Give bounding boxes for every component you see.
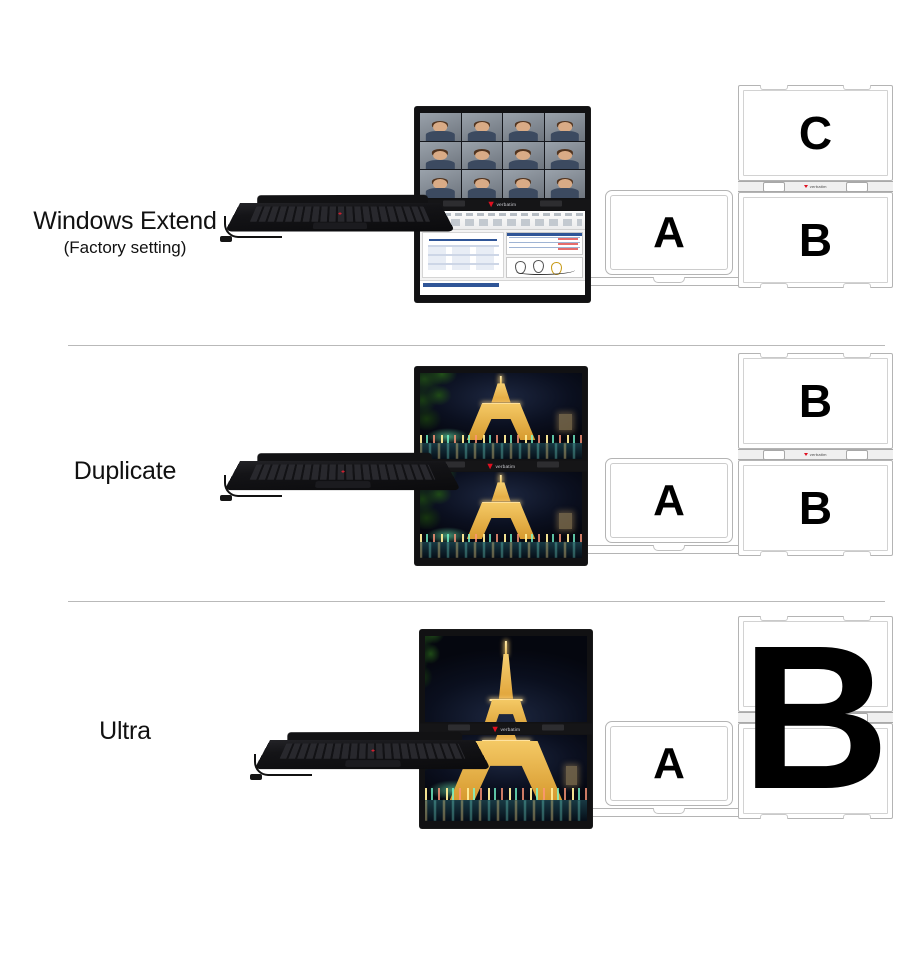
map-pin-icon [551, 262, 562, 275]
mode-label-title: Duplicate [0, 457, 250, 486]
wireframe-top-panel-letter: C [799, 110, 832, 156]
verbatim-wordmark: verbatim [500, 726, 520, 731]
wireframe-dual-monitor: C verbatim B [738, 85, 893, 288]
wireframe-top-panel-letter: B [799, 378, 832, 424]
wireframe-bottom-bezel [743, 728, 888, 814]
laptop-photo [270, 732, 475, 783]
mode-row-windows-extend: Windows Extend (Factory setting) [0, 85, 900, 340]
monitor-top-panel [415, 367, 587, 466]
laptop-trackpad [314, 481, 370, 488]
mode-label-windows-extend: Windows Extend (Factory setting) [0, 207, 250, 260]
connection-cable [254, 754, 312, 776]
mode-label-subtitle: (Factory setting) [0, 236, 250, 260]
vc-participant-tile [462, 170, 503, 198]
wireframe-laptop-screen: A [605, 190, 733, 275]
verbatim-v-icon [489, 202, 494, 207]
laptop-trackpoint [338, 212, 341, 214]
wireframe-laptop: A [605, 458, 733, 554]
verbatim-logo: verbatim [487, 463, 515, 468]
eiffel-background-building [559, 513, 572, 528]
vc-participant-tile [420, 142, 461, 170]
eiffel-city-lights [425, 788, 587, 800]
wireframe-bottom-tab-right [843, 551, 871, 556]
eiffel-tower-structure [464, 475, 539, 539]
wireframe-hinge-bar: verbatim [738, 712, 893, 723]
verbatim-wordmark: verbatim [810, 715, 827, 720]
wireframe-hinge-clip-right [846, 182, 868, 192]
eiffel-tower-image [420, 373, 582, 459]
laptop-trackpad [313, 223, 368, 230]
connection-cable [224, 475, 282, 497]
verbatim-v-icon [804, 453, 808, 456]
verbatim-v-icon [804, 185, 808, 188]
wireframe-hinge-clip-right [846, 450, 868, 460]
wireframe-top-panel [738, 616, 893, 712]
wireframe-hinge-clip-right [846, 713, 868, 723]
monitor-top-screen [425, 636, 587, 722]
verbatim-wordmark: verbatim [497, 202, 517, 207]
wireframe-hinge-clip-left [763, 182, 785, 192]
eiffel-background-building [566, 766, 577, 785]
mode-label-title: Ultra [0, 717, 250, 746]
wireframe-verbatim-logo: verbatim [804, 452, 826, 457]
wireframe-laptop-bezel [610, 726, 728, 801]
monitor-top-screen [420, 373, 582, 459]
monitor-top-panel [420, 630, 592, 729]
mode-label-ultra: Ultra [0, 717, 250, 746]
cable-plug [250, 774, 262, 780]
vc-participant-tile [503, 142, 544, 170]
verbatim-v-icon [804, 716, 808, 719]
hinge-clip-left [443, 200, 465, 206]
wireframe-bottom-panel: B [738, 192, 893, 288]
wireframe-laptop-notch [653, 545, 685, 551]
mode-row-ultra: Ultra [0, 602, 900, 857]
verbatim-logo: verbatim [489, 202, 517, 207]
wireframe-laptop-notch [653, 277, 685, 283]
hinge-clip-left [448, 725, 470, 731]
verbatim-wordmark: verbatim [810, 452, 827, 457]
eiffel-spire [505, 641, 507, 655]
cable-plug [220, 495, 232, 501]
verbatim-v-icon [492, 726, 497, 731]
dashboard-footer-table [420, 280, 585, 295]
wireframe-top-panel: B [738, 353, 893, 449]
row-divider [68, 345, 885, 346]
mode-row-duplicate: Duplicate [0, 347, 900, 602]
laptop-trackpad [344, 760, 400, 767]
vc-participant-tile [420, 113, 461, 141]
wireframe-top-panel: C [738, 85, 893, 181]
vc-participant-tile [462, 142, 503, 170]
eiffel-river-reflection [425, 800, 587, 821]
eiffel-trees [425, 636, 448, 688]
hinge-clip-right [542, 725, 564, 731]
wireframe-bottom-panel [738, 723, 893, 819]
wireframe-hinge-clip-left [763, 713, 785, 723]
vc-participant-tile [545, 113, 586, 141]
wireframe-bottom-panel: B [738, 460, 893, 556]
map-pin-icon [533, 260, 544, 273]
wireframe-bottom-panel-letter: B [799, 217, 832, 263]
wireframe-bottom-tab-left [760, 551, 788, 556]
eiffel-base-arch [481, 700, 531, 722]
wireframe-laptop: A [605, 721, 733, 817]
wireframe-bottom-panel-letter: B [799, 485, 832, 531]
wireframe-laptop-bezel [610, 463, 728, 538]
wireframe-bottom-tab-left [760, 283, 788, 288]
dashboard-right-column [506, 232, 583, 278]
wireframe-laptop-base [578, 277, 760, 286]
wireframe-laptop-bezel [610, 195, 728, 270]
eiffel-spire [500, 475, 502, 483]
map-pin-icon [515, 261, 526, 274]
verbatim-logo: verbatim [492, 726, 520, 731]
wireframe-laptop-screen: A [605, 458, 733, 543]
connection-cable [224, 216, 282, 238]
wireframe-bottom-tab-right [843, 814, 871, 819]
mode-label-duplicate: Duplicate [0, 457, 250, 486]
verbatim-wordmark: verbatim [495, 463, 515, 468]
eiffel-upper-section [493, 654, 518, 699]
eiffel-trees [420, 373, 462, 430]
eiffel-tower-image-upper [425, 636, 587, 722]
eiffel-background-building [559, 414, 572, 429]
wireframe-verbatim-logo: verbatim [804, 715, 826, 720]
laptop-photo [240, 195, 440, 245]
mode-label-title: Windows Extend [0, 207, 250, 236]
vc-participant-tile [545, 170, 586, 198]
wireframe-dual-monitor: B verbatim B [738, 353, 893, 556]
verbatim-wordmark: verbatim [810, 184, 827, 189]
cable-plug [220, 236, 232, 242]
wireframe-verbatim-logo: verbatim [804, 184, 826, 189]
eiffel-spire [500, 376, 502, 384]
hinge-clip-right [540, 200, 562, 206]
wireframe-laptop-base [578, 808, 760, 817]
vc-participant-tile [462, 113, 503, 141]
dashboard-data-table [506, 232, 583, 255]
laptop-photo [240, 453, 445, 504]
vc-participant-tile [420, 170, 461, 198]
laptop-trackpoint [371, 750, 374, 752]
eiffel-tower-structure [464, 376, 539, 440]
monitor-top-screen [420, 113, 585, 198]
wireframe-top-bezel [743, 621, 888, 707]
wireframe-laptop-screen: A [605, 721, 733, 806]
wireframe-laptop: A [605, 190, 733, 286]
video-conference-grid [420, 113, 585, 198]
eiffel-upper-section [484, 383, 518, 402]
dashboard-body [420, 230, 585, 280]
eiffel-upper-section [484, 482, 518, 501]
wireframe-hinge-bar: verbatim [738, 449, 893, 460]
wireframe-hinge-bar: verbatim [738, 181, 893, 192]
dual-monitor-photo: verbatim [420, 630, 592, 828]
monitor-top-panel [415, 107, 590, 205]
vc-participant-tile [503, 113, 544, 141]
dashboard-heat-bars [558, 238, 577, 252]
wireframe-laptop-notch [653, 808, 685, 814]
dashboard-map-panel [506, 257, 583, 278]
wireframe-laptop-base [578, 545, 760, 554]
wireframe-hinge-clip-left [763, 450, 785, 460]
wireframe-bottom-tab-right [843, 283, 871, 288]
laptop-trackpoint [341, 471, 344, 473]
vc-participant-tile [503, 170, 544, 198]
eiffel-river-reflection [420, 542, 582, 558]
verbatim-v-icon [487, 463, 492, 468]
wireframe-bottom-tab-left [760, 814, 788, 819]
display-mode-comparison-page: Windows Extend (Factory setting) [0, 0, 900, 959]
wireframe-dual-monitor: verbatim B [738, 616, 893, 819]
hinge-clip-right [537, 462, 559, 468]
eiffel-tower-structure [485, 641, 527, 722]
vc-participant-tile [545, 142, 586, 170]
